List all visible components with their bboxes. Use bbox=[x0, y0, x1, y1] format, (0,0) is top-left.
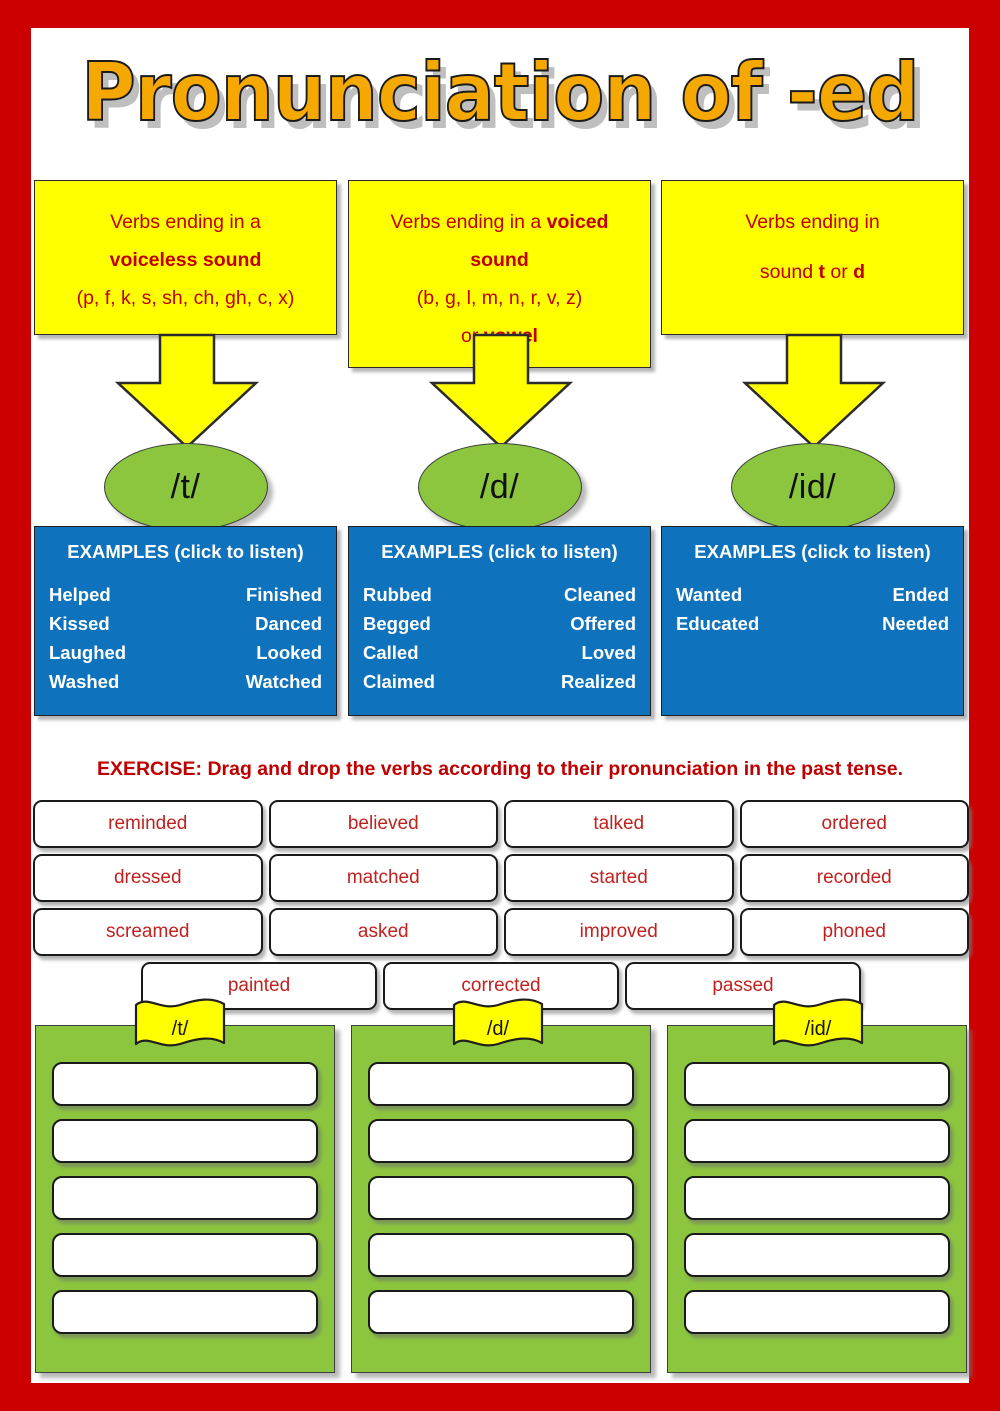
examples-column-t: EXAMPLES (click to listen) Helped Finish… bbox=[34, 526, 337, 716]
example-row[interactable]: Washed Watched bbox=[49, 667, 322, 696]
dropzone-id[interactable]: /id/ bbox=[667, 1025, 967, 1373]
example-word[interactable]: Finished bbox=[246, 580, 322, 609]
worksheet-page: Pronunciation of -ed Verbs ending in a v… bbox=[0, 0, 1000, 1411]
rule-column-id: Verbs ending in sound t or d bbox=[661, 180, 964, 335]
rule-line-2-bold: sound bbox=[470, 249, 529, 271]
arrow-wrap-d bbox=[348, 335, 651, 455]
example-word[interactable]: Claimed bbox=[363, 667, 435, 696]
sound-label-t: /t/ bbox=[171, 468, 201, 507]
verb-chip[interactable]: asked bbox=[269, 908, 499, 956]
verb-chip[interactable]: matched bbox=[269, 854, 499, 902]
drop-slot[interactable] bbox=[684, 1233, 950, 1277]
examples-box-id[interactable]: EXAMPLES (click to listen) Wanted Ended … bbox=[661, 526, 964, 716]
arrow-wrap-t bbox=[34, 335, 337, 455]
down-arrow-icon bbox=[112, 335, 262, 449]
drop-slot[interactable] bbox=[368, 1119, 634, 1163]
ellipse-wrap-t: /t/ bbox=[34, 443, 337, 539]
example-word[interactable]: Educated bbox=[676, 609, 759, 638]
rule-line-2-bold: t bbox=[818, 261, 825, 283]
examples-box-d[interactable]: EXAMPLES (click to listen) Rubbed Cleane… bbox=[348, 526, 651, 716]
sound-label-d: /d/ bbox=[480, 468, 519, 507]
page-title: Pronunciation of -ed bbox=[31, 38, 969, 158]
example-row[interactable]: Laughed Looked bbox=[49, 638, 322, 667]
dropzone-label-d: /d/ bbox=[452, 999, 544, 1056]
flow-column-d: /d/ bbox=[348, 335, 651, 455]
flow-column-id: /id/ bbox=[661, 335, 964, 455]
rule-line-3: (p, f, k, s, sh, ch, gh, c, x) bbox=[45, 279, 326, 317]
example-word[interactable]: Offered bbox=[570, 609, 636, 638]
verb-chip[interactable]: improved bbox=[504, 908, 734, 956]
page-canvas: Pronunciation of -ed Verbs ending in a v… bbox=[31, 28, 969, 1383]
arrow-wrap-id bbox=[661, 335, 964, 455]
example-row[interactable]: Wanted Ended bbox=[676, 580, 949, 609]
example-row[interactable]: Educated Needed bbox=[676, 609, 949, 638]
verb-chip[interactable]: reminded bbox=[33, 800, 263, 848]
drop-slot[interactable] bbox=[368, 1176, 634, 1220]
rule-column-t: Verbs ending in a voiceless sound (p, f,… bbox=[34, 180, 337, 335]
example-row[interactable]: Called Loved bbox=[363, 638, 636, 667]
drop-slot[interactable] bbox=[52, 1176, 318, 1220]
verb-chip[interactable]: screamed bbox=[33, 908, 263, 956]
example-word[interactable]: Helped bbox=[49, 580, 111, 609]
banner-flag-icon: /d/ bbox=[452, 999, 544, 1056]
verb-chip[interactable]: phoned bbox=[740, 908, 970, 956]
example-word[interactable]: Needed bbox=[882, 609, 949, 638]
example-row[interactable]: Helped Finished bbox=[49, 580, 322, 609]
chip-row: dressed matched started recorded bbox=[33, 854, 969, 902]
sound-ellipse-t: /t/ bbox=[104, 443, 268, 531]
examples-title: EXAMPLES (click to listen) bbox=[363, 539, 636, 566]
example-row[interactable]: Rubbed Cleaned bbox=[363, 580, 636, 609]
example-word[interactable]: Realized bbox=[561, 667, 636, 696]
drop-slot[interactable] bbox=[52, 1062, 318, 1106]
rule-line-2-bold: voiceless sound bbox=[110, 249, 262, 271]
banner-flag-icon: /t/ bbox=[134, 999, 226, 1056]
chip-row: reminded believed talked ordered bbox=[33, 800, 969, 848]
drop-slot[interactable] bbox=[368, 1233, 634, 1277]
example-word[interactable]: Danced bbox=[255, 609, 322, 638]
down-arrow-icon bbox=[426, 335, 576, 449]
examples-column-d: EXAMPLES (click to listen) Rubbed Cleane… bbox=[348, 526, 651, 716]
rule-box-voiceless: Verbs ending in a voiceless sound (p, f,… bbox=[34, 180, 337, 335]
example-word[interactable]: Laughed bbox=[49, 638, 126, 667]
example-row[interactable]: Begged Offered bbox=[363, 609, 636, 638]
example-word[interactable]: Begged bbox=[363, 609, 431, 638]
rule-line-2-mid: or bbox=[830, 261, 847, 283]
drop-slot[interactable] bbox=[684, 1290, 950, 1334]
examples-title: EXAMPLES (click to listen) bbox=[676, 539, 949, 566]
banner-flag-icon: /id/ bbox=[772, 999, 864, 1056]
rule-line-1: Verbs ending in a bbox=[45, 203, 326, 241]
sound-ellipse-id: /id/ bbox=[731, 443, 895, 531]
drop-slot[interactable] bbox=[684, 1119, 950, 1163]
chip-row: screamed asked improved phoned bbox=[33, 908, 969, 956]
rule-line-3: (b, g, l, m, n, r, v, z) bbox=[359, 279, 640, 317]
verb-chip[interactable]: ordered bbox=[740, 800, 970, 848]
verb-chip[interactable]: recorded bbox=[740, 854, 970, 902]
example-word[interactable]: Washed bbox=[49, 667, 119, 696]
example-word[interactable]: Looked bbox=[256, 638, 322, 667]
example-word[interactable]: Loved bbox=[582, 638, 636, 667]
dropzone-t[interactable]: /t/ bbox=[35, 1025, 335, 1373]
flow-row: /t/ /d/ bbox=[31, 335, 969, 540]
dropzone-label-id: /id/ bbox=[772, 999, 864, 1056]
drop-slot[interactable] bbox=[52, 1290, 318, 1334]
rule-line-1: Verbs ending in bbox=[672, 203, 953, 241]
rules-row: Verbs ending in a voiceless sound (p, f,… bbox=[31, 180, 969, 360]
rule-box-t-or-d: Verbs ending in sound t or d bbox=[661, 180, 964, 335]
dropzone-label-t: /t/ bbox=[134, 999, 226, 1056]
example-row[interactable]: Claimed Realized bbox=[363, 667, 636, 696]
example-word[interactable]: Rubbed bbox=[363, 580, 432, 609]
examples-row: EXAMPLES (click to listen) Helped Finish… bbox=[31, 526, 969, 726]
examples-column-id: EXAMPLES (click to listen) Wanted Ended … bbox=[661, 526, 964, 716]
verb-chip[interactable]: believed bbox=[269, 800, 499, 848]
verb-chip[interactable]: started bbox=[504, 854, 734, 902]
drop-slot[interactable] bbox=[52, 1119, 318, 1163]
drop-slot[interactable] bbox=[52, 1233, 318, 1277]
verb-chip[interactable]: dressed bbox=[33, 854, 263, 902]
drop-slot[interactable] bbox=[368, 1062, 634, 1106]
example-word[interactable]: Wanted bbox=[676, 580, 742, 609]
verb-chip[interactable]: talked bbox=[504, 800, 734, 848]
dropzone-d[interactable]: /d/ bbox=[351, 1025, 651, 1373]
exercise-instruction: EXERCISE: Drag and drop the verbs accord… bbox=[31, 758, 969, 781]
example-word[interactable]: Called bbox=[363, 638, 419, 667]
sound-ellipse-d: /d/ bbox=[418, 443, 582, 531]
example-row[interactable]: Kissed Danced bbox=[49, 609, 322, 638]
rule-line-1-bold: voiced bbox=[547, 211, 609, 233]
example-word[interactable]: Cleaned bbox=[564, 580, 636, 609]
rule-line-1: Verbs ending in a bbox=[391, 211, 542, 233]
page-title-text: Pronunciation of -ed bbox=[64, 38, 936, 148]
verb-chip-grid: reminded believed talked ordered dressed… bbox=[33, 800, 969, 1016]
example-word[interactable]: Kissed bbox=[49, 609, 110, 638]
ellipse-wrap-id: /id/ bbox=[661, 443, 964, 539]
drop-slot[interactable] bbox=[368, 1290, 634, 1334]
example-word[interactable]: Ended bbox=[892, 580, 949, 609]
examples-title: EXAMPLES (click to listen) bbox=[49, 539, 322, 566]
example-word[interactable]: Watched bbox=[246, 667, 322, 696]
sound-label-id: /id/ bbox=[789, 468, 836, 507]
examples-box-t[interactable]: EXAMPLES (click to listen) Helped Finish… bbox=[34, 526, 337, 716]
flow-column-t: /t/ bbox=[34, 335, 337, 455]
dropzone-row: /t/ /d/ bbox=[33, 1025, 969, 1377]
rule-line-2-bold2: d bbox=[853, 261, 865, 283]
rule-line-2: sound bbox=[760, 261, 813, 283]
drop-slot[interactable] bbox=[684, 1062, 950, 1106]
drop-slot[interactable] bbox=[684, 1176, 950, 1220]
ellipse-wrap-d: /d/ bbox=[348, 443, 651, 539]
down-arrow-icon bbox=[739, 335, 889, 449]
